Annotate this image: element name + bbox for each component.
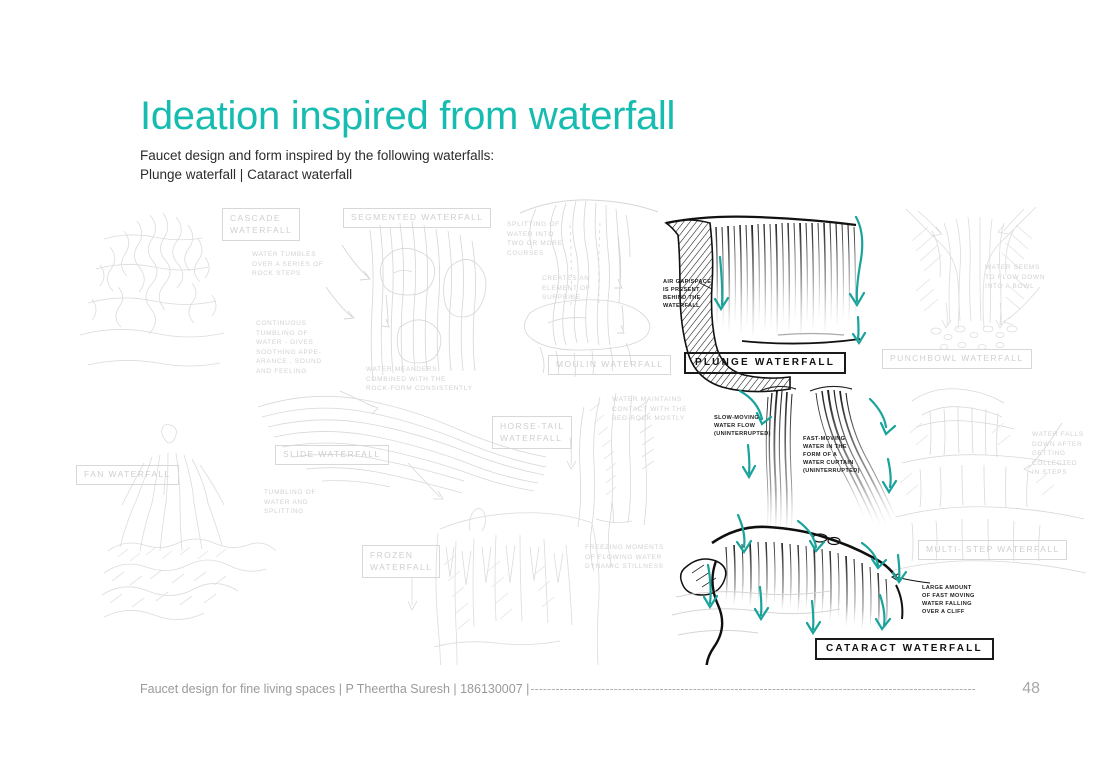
note-fan: TUMBLING OF WATER AND SPLITTING bbox=[264, 488, 316, 517]
sketch-fan bbox=[102, 425, 276, 620]
label-punchbowl: PUNCHBOWL WATERFALL bbox=[882, 349, 1032, 369]
footer-dashes: ----------------------------------------… bbox=[530, 682, 1019, 696]
note-cascade-2: CONTINUOUS TUMBLING OF WATER - GIVES SOO… bbox=[256, 319, 322, 376]
label-cataract: CATARACT WATERFALL bbox=[815, 638, 994, 660]
label-plunge: PLUNGE WATERFALL bbox=[684, 352, 846, 374]
label-cascade: CASCADE WATERFALL bbox=[222, 208, 300, 241]
note-splitting: SPLITTING OF WATER INTO TWO OR MORE COUR… bbox=[507, 220, 563, 258]
note-punchbowl: WATER SEEMS TO FLOW DOWN INTO A BOWL bbox=[985, 263, 1045, 292]
subtitle-line-2: Plunge waterfall | Cataract waterfall bbox=[140, 165, 494, 184]
label-segmented: SEGMENTED WATERFALL bbox=[343, 208, 491, 228]
note-plunge: AIR GAP/SPACE IS PRESENT BEHIND THE WATE… bbox=[663, 278, 711, 310]
label-frozen: FROZEN WATERFALL bbox=[362, 545, 440, 578]
sketch-canvas: CASCADE WATERFALL SEGMENTED WATERFALL MO… bbox=[0, 195, 1100, 665]
sketch-frozen bbox=[408, 508, 600, 665]
label-multistep: MULTI- STEP WATERFALL bbox=[918, 540, 1067, 560]
note-segmented: WATER MEANDERS COMBINED WITH THE ROCK-FO… bbox=[366, 365, 473, 394]
subtitle-line-1: Faucet design and form inspired by the f… bbox=[140, 146, 494, 165]
note-horsetail: WATER MAINTAINS CONTACT WITH THE BED-ROC… bbox=[612, 395, 687, 424]
label-horsetail: HORSE-TAIL WATERFALL bbox=[492, 416, 572, 449]
presentation-slide: Ideation inspired from waterfall Faucet … bbox=[0, 0, 1100, 778]
page-number: 48 bbox=[1022, 680, 1040, 698]
sketch-cascade bbox=[80, 213, 224, 366]
sketch-segmented bbox=[326, 221, 486, 380]
page-title: Ideation inspired from waterfall bbox=[140, 92, 675, 140]
label-slide: SLIDE WATERFALL bbox=[275, 445, 389, 465]
note-cascade-1: WATER TUMBLES OVER A SERIES OF ROCK STEP… bbox=[252, 250, 324, 279]
note-slow-flow: SLOW-MOVING WATER FLOW (UNINTERRUPTED) bbox=[714, 414, 771, 438]
note-frozen: FREEZING MOMENTS OF FLOWING WATER DYNAMI… bbox=[585, 543, 664, 572]
label-fan: FAN WATERFALL bbox=[76, 465, 179, 485]
page-subtitle: Faucet design and form inspired by the f… bbox=[140, 146, 494, 184]
note-fast-flow: FAST-MOVING WATER IN THE FORM OF A WATER… bbox=[803, 435, 860, 475]
slide-footer: Faucet design for fine living spaces | P… bbox=[140, 679, 1040, 699]
footer-credit: Faucet design for fine living spaces | P… bbox=[140, 682, 529, 696]
note-multistep: WATER FALLS DOWN AFTER GETTING COLLECTED… bbox=[1032, 430, 1100, 478]
label-moulin: MOULIN WATERFALL bbox=[548, 355, 671, 375]
note-cataract: LARGE AMOUNT OF FAST MOVING WATER FALLIN… bbox=[922, 584, 975, 616]
note-surprise: CREATES AN ELEMENT OF SURPRISE bbox=[542, 274, 590, 303]
